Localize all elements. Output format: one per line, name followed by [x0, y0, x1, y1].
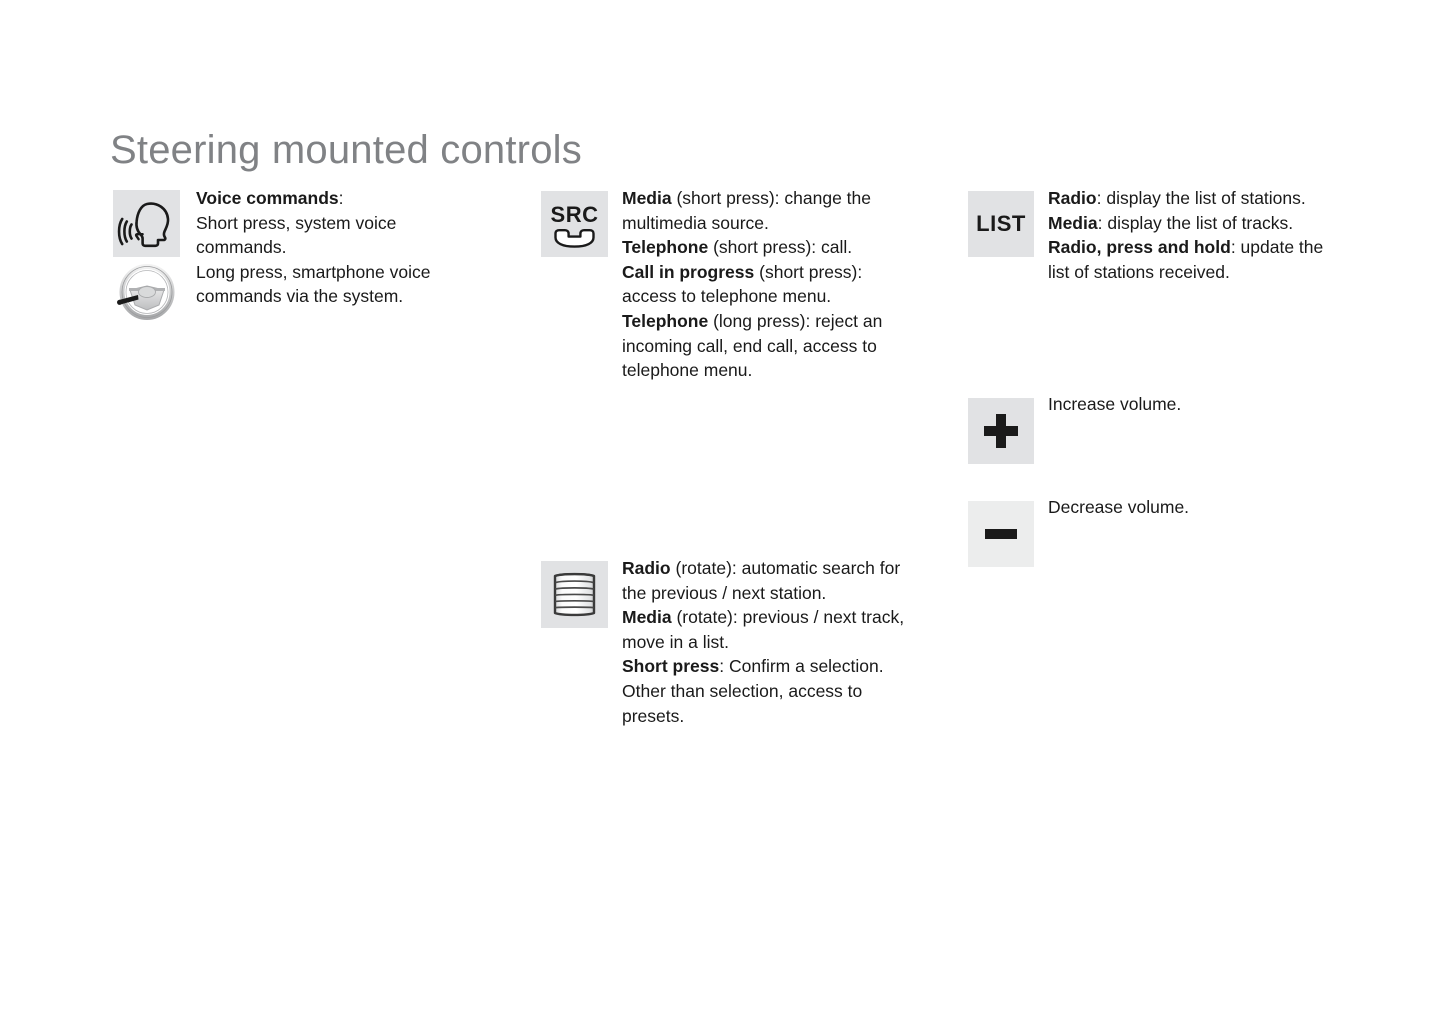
- minus-button-icon-box[interactable]: [968, 501, 1034, 567]
- scroll-wheel-icon: [541, 561, 608, 628]
- entry-decrease-volume-text: Decrease volume.: [1048, 495, 1348, 520]
- steering-wheel-icon-box: [113, 262, 180, 324]
- minus-icon: [968, 501, 1034, 567]
- steering-wheel-icon: [113, 262, 180, 324]
- voice-head-icon: [113, 190, 180, 257]
- voice-head-icon-box[interactable]: [113, 190, 180, 257]
- phone-handset-icon: [541, 227, 608, 253]
- list-button-icon-box[interactable]: LIST: [968, 191, 1034, 257]
- entry-increase-volume-text: Increase volume.: [1048, 392, 1348, 417]
- entry-list-button-text: Radio: display the list of stations.Medi…: [1048, 186, 1368, 284]
- plus-icon: [968, 398, 1034, 464]
- entry-voice-commands-text: Voice commands:Short press, system voice…: [196, 186, 496, 309]
- entry-scroll-wheel-text: Radio (rotate): automatic search forthe …: [622, 556, 952, 728]
- list-button-label: LIST: [968, 211, 1034, 237]
- src-button-icon-box[interactable]: SRC: [541, 191, 608, 257]
- page-title: Steering mounted controls: [110, 128, 582, 173]
- src-button-label: SRC: [541, 202, 608, 228]
- plus-button-icon-box[interactable]: [968, 398, 1034, 464]
- scroll-wheel-icon-box[interactable]: [541, 561, 608, 628]
- entry-src-button-text: Media (short press): change themultimedi…: [622, 186, 942, 383]
